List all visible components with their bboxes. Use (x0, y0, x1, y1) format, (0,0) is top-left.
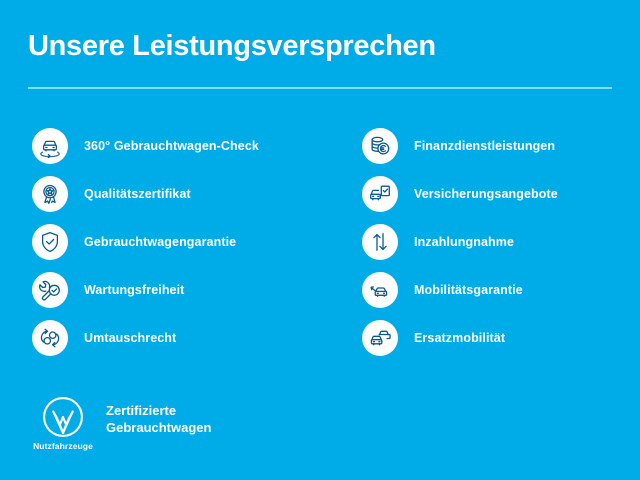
vw-logo-subtitle: Nutzfahrzeuge (33, 441, 93, 451)
slide-root: Unsere Leistungsversprechen 360° Gebrauc… (0, 0, 640, 480)
list-item[interactable]: Ersatzmobilität (362, 314, 640, 362)
list-item[interactable]: Wartungsfreiheit (32, 266, 332, 314)
list-item-label: Finanzdienstleistungen (414, 139, 555, 153)
list-item[interactable]: 360° Gebrauchtwagen-Check (32, 122, 332, 170)
shield-check-icon (32, 224, 68, 260)
up-down-arrows-icon (362, 224, 398, 260)
car-360-check-icon (32, 128, 68, 164)
list-item-label: Inzahlungnahme (414, 235, 514, 249)
wrench-check-icon (32, 272, 68, 308)
list-item[interactable]: Finanzdienstleistungen (362, 122, 640, 170)
list-item[interactable]: Inzahlungnahme (362, 218, 640, 266)
list-item[interactable]: Mobilitätsgarantie (362, 266, 640, 314)
list-item[interactable]: Versicherungsangebote (362, 170, 640, 218)
list-item[interactable]: Umtauschrecht (32, 314, 332, 362)
promises-column-left: 360° Gebrauchtwagen-Check Qualitätszerti… (32, 122, 332, 362)
list-item-label: Ersatzmobilität (414, 331, 505, 345)
page-title: Unsere Leistungsversprechen (28, 30, 436, 63)
list-item-label: Qualitätszertifikat (84, 187, 191, 201)
footer: Nutzfahrzeuge Zertifizierte Gebrauchtwag… (32, 396, 211, 451)
tow-truck-icon (362, 272, 398, 308)
coins-euro-icon (362, 128, 398, 164)
list-item-label: Mobilitätsgarantie (414, 283, 523, 297)
list-item[interactable]: Qualitätszertifikat (32, 170, 332, 218)
vw-roundel-icon (42, 396, 84, 438)
promises-column-right: Finanzdienstleistungen Versicherungsange… (362, 122, 640, 362)
footer-headline: Zertifizierte Gebrauchtwagen (106, 402, 211, 436)
title-divider (28, 87, 612, 89)
list-item-label: Umtauschrecht (84, 331, 176, 345)
footer-headline-line2: Gebrauchtwagen (106, 419, 211, 436)
two-cars-icon (362, 320, 398, 356)
vw-logo: Nutzfahrzeuge (32, 396, 94, 451)
list-item-label: 360° Gebrauchtwagen-Check (84, 139, 259, 153)
car-document-icon (362, 176, 398, 212)
list-item-label: Versicherungsangebote (414, 187, 558, 201)
list-item[interactable]: Gebrauchtwagengarantie (32, 218, 332, 266)
footer-headline-line1: Zertifizierte (106, 402, 211, 419)
list-item-label: Wartungsfreiheit (84, 283, 184, 297)
quality-seal-icon (32, 176, 68, 212)
list-item-label: Gebrauchtwagengarantie (84, 235, 236, 249)
exchange-arrows-icon (32, 320, 68, 356)
